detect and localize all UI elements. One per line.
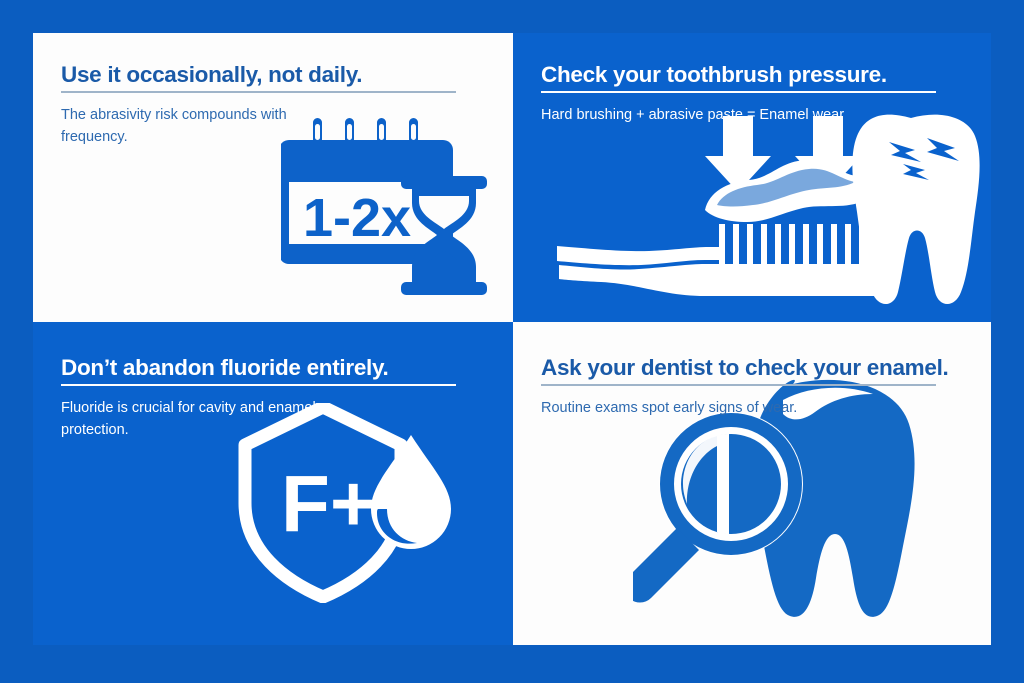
panel-1-headline: Use it occasionally, not daily. bbox=[61, 63, 495, 88]
panel-3-underline-rule bbox=[61, 384, 456, 386]
panel-4-body: Routine exams spot early signs of wear. bbox=[541, 398, 871, 420]
panel-4-text-block: Ask your dentist to check your enamel. R… bbox=[541, 356, 973, 420]
panel-ask-dentist: Ask your dentist to check your enamel. R… bbox=[513, 322, 991, 645]
panel-use-occasionally: Use it occasionally, not daily. The abra… bbox=[33, 33, 513, 322]
calendar-frequency-label: 1-2x bbox=[303, 188, 411, 248]
panel-4-underline-rule bbox=[541, 384, 936, 386]
panel-toothbrush-pressure: Check your toothbrush pressure. Hard bru… bbox=[513, 33, 991, 322]
panel-3-headline: Don’t abandon fluoride entirely. bbox=[61, 356, 495, 381]
panel-1-underline-rule bbox=[61, 91, 456, 93]
panel-keep-fluoride: Don’t abandon fluoride entirely. Fluorid… bbox=[33, 322, 513, 645]
panel-2-body: Hard brushing + abrasive paste = Enamel … bbox=[541, 105, 871, 127]
panel-1-body: The abrasivity risk compounds with frequ… bbox=[61, 105, 321, 149]
panel-2-text-block: Check your toothbrush pressure. Hard bru… bbox=[541, 63, 973, 127]
panel-4-headline: Ask your dentist to check your enamel. bbox=[541, 356, 973, 381]
panel-grid: Use it occasionally, not daily. The abra… bbox=[33, 33, 991, 645]
water-droplet-shape bbox=[371, 435, 451, 549]
panel-3-text-block: Don’t abandon fluoride entirely. Fluorid… bbox=[61, 356, 495, 441]
panel-2-underline-rule bbox=[541, 91, 936, 93]
panel-2-headline: Check your toothbrush pressure. bbox=[541, 63, 973, 88]
panel-1-text-block: Use it occasionally, not daily. The abra… bbox=[61, 63, 495, 148]
toothbrush-pressure-tooth-icon bbox=[555, 106, 985, 316]
infographic-canvas: Use it occasionally, not daily. The abra… bbox=[0, 0, 1024, 683]
fluoride-label: F+ bbox=[281, 459, 377, 548]
cracked-tooth-shape bbox=[852, 115, 979, 304]
panel-3-body: Fluoride is crucial for cavity and ename… bbox=[61, 398, 321, 442]
bristles bbox=[719, 224, 865, 266]
